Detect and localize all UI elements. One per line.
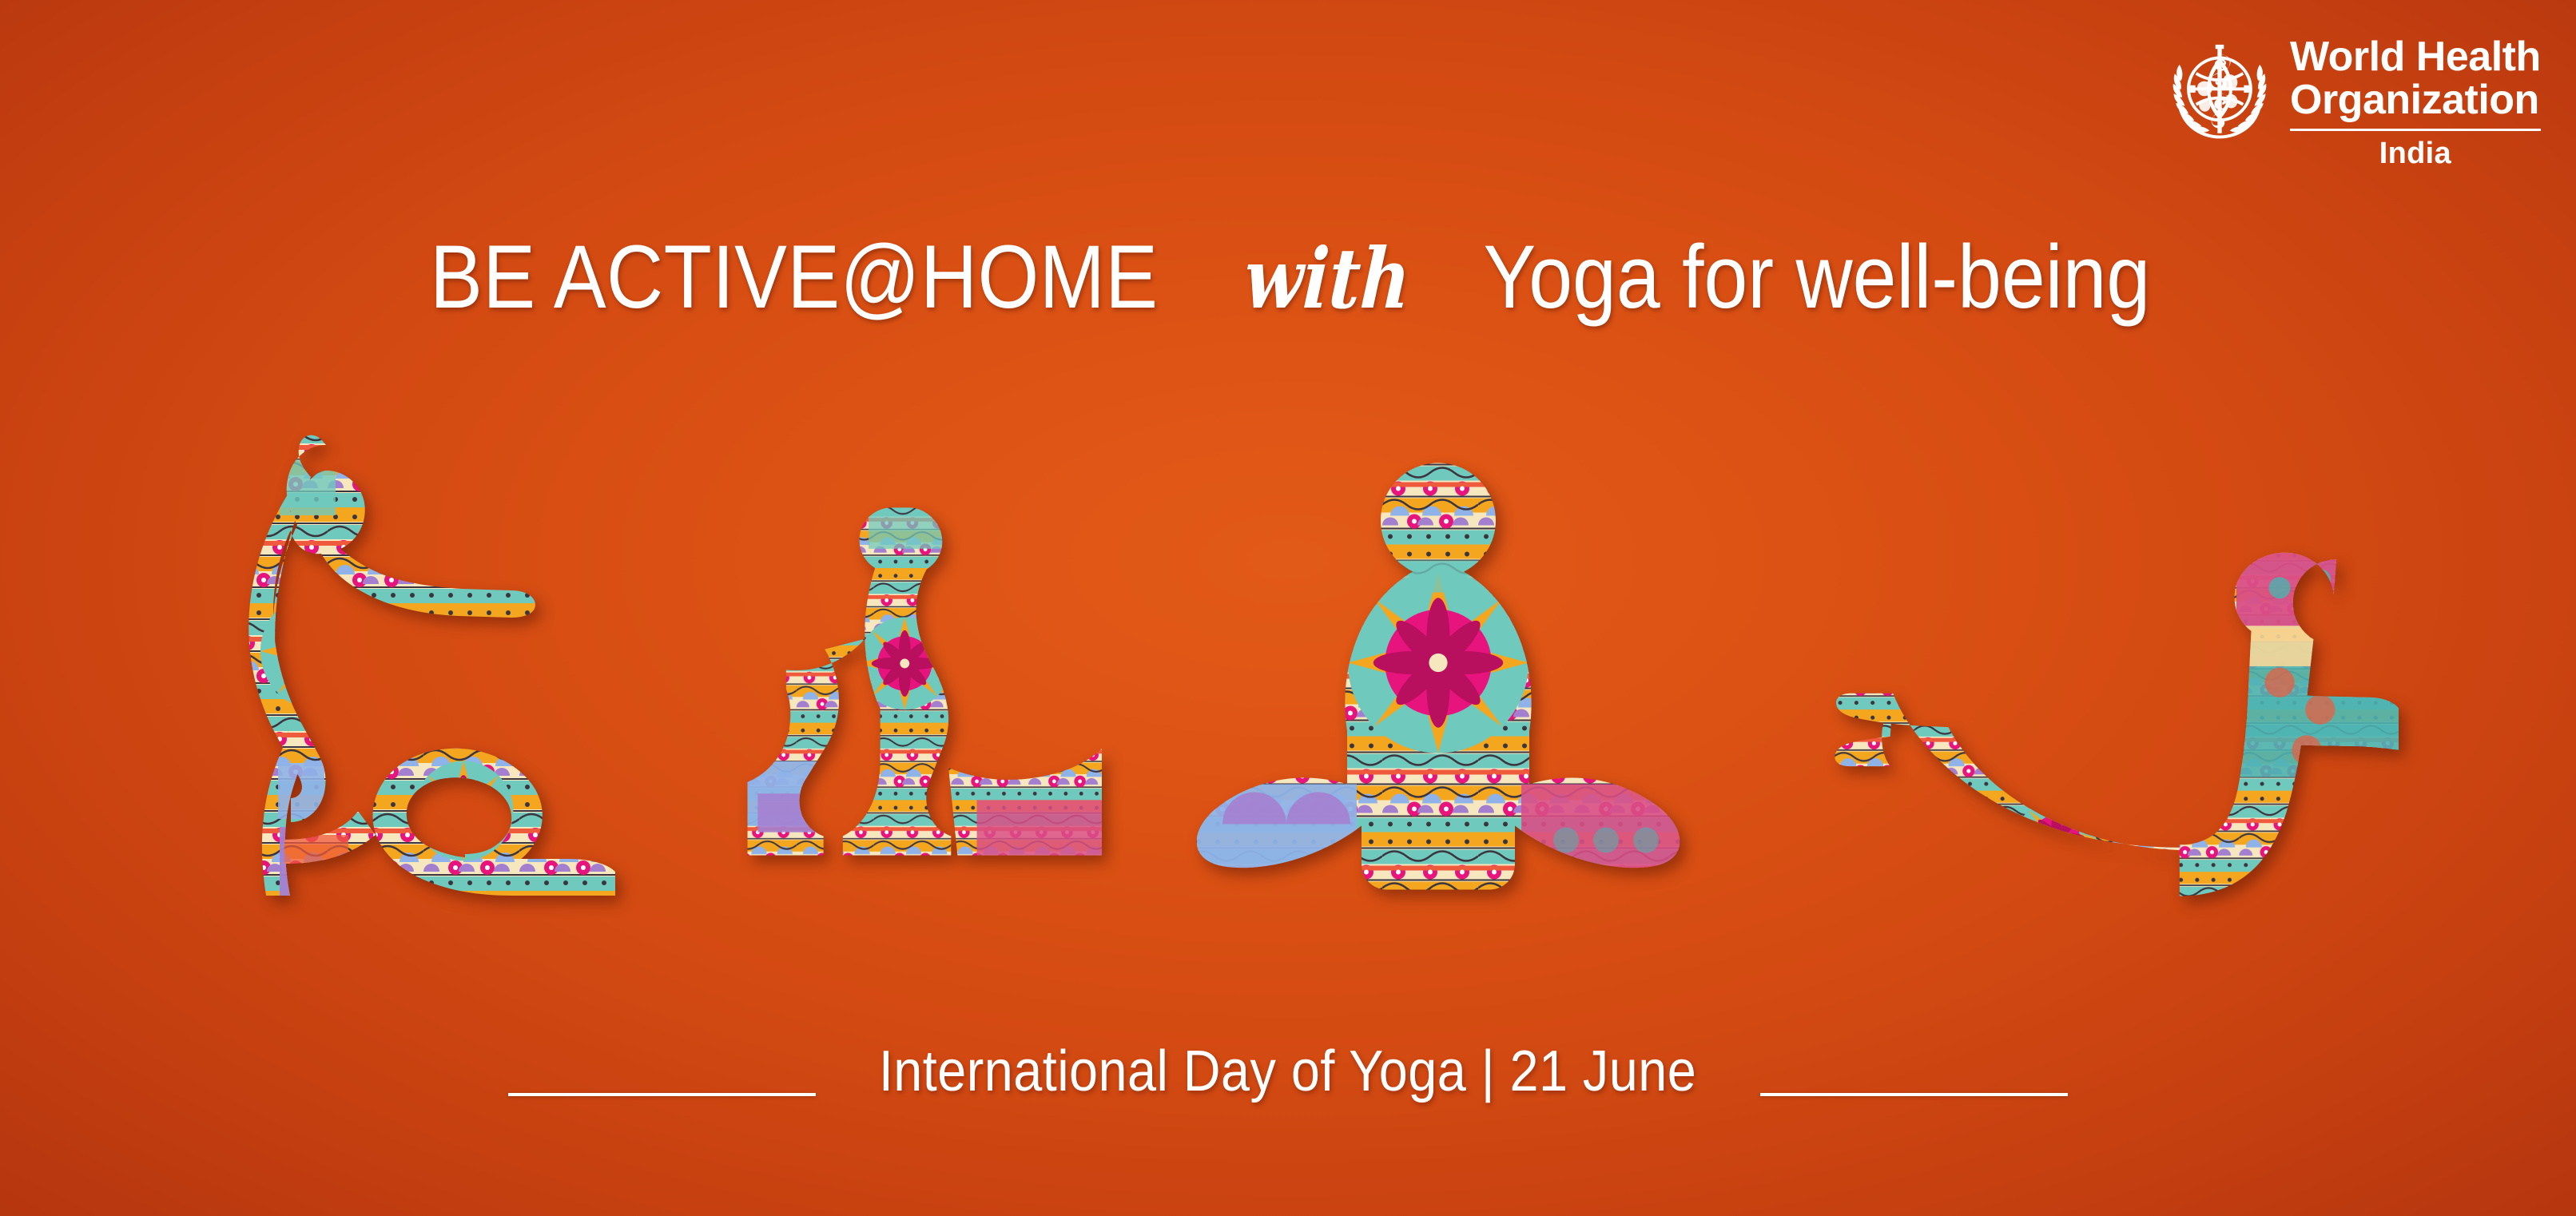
who-divider [2290,129,2541,131]
who-emblem-icon [2167,38,2272,144]
headline-tail-text: Yoga for well-being [1479,225,2150,328]
dancer-pose-figure [136,411,655,899]
lunge-pose-figure [719,447,1119,899]
headline-with-word: with [1225,229,1416,328]
cobra-pose-figure [1782,547,2453,899]
who-wordmark: World Health Organization India [2290,35,2541,171]
footer-rule-left [508,1093,816,1096]
footer-event-text: International Day of Yoga | 21 June [879,1039,1696,1104]
yoga-campaign-poster: World Health Organization India BE ACTIV… [0,0,2576,1216]
who-name-line2: Organization [2290,78,2541,121]
who-country-label: India [2290,137,2541,171]
headline: BE ACTIVE@HOMEwithYoga for well-being [0,225,2576,328]
who-logo: World Health Organization India [2167,35,2541,171]
footer: International Day of Yoga | 21 June [0,1039,2576,1104]
who-name-line1: World Health [2290,35,2541,78]
yoga-figures-row [0,0,2576,1216]
lotus-pose-figure [1191,439,1686,899]
footer-rule-right [1760,1093,2068,1096]
headline-main-text: BE ACTIVE@HOME [430,225,1158,328]
